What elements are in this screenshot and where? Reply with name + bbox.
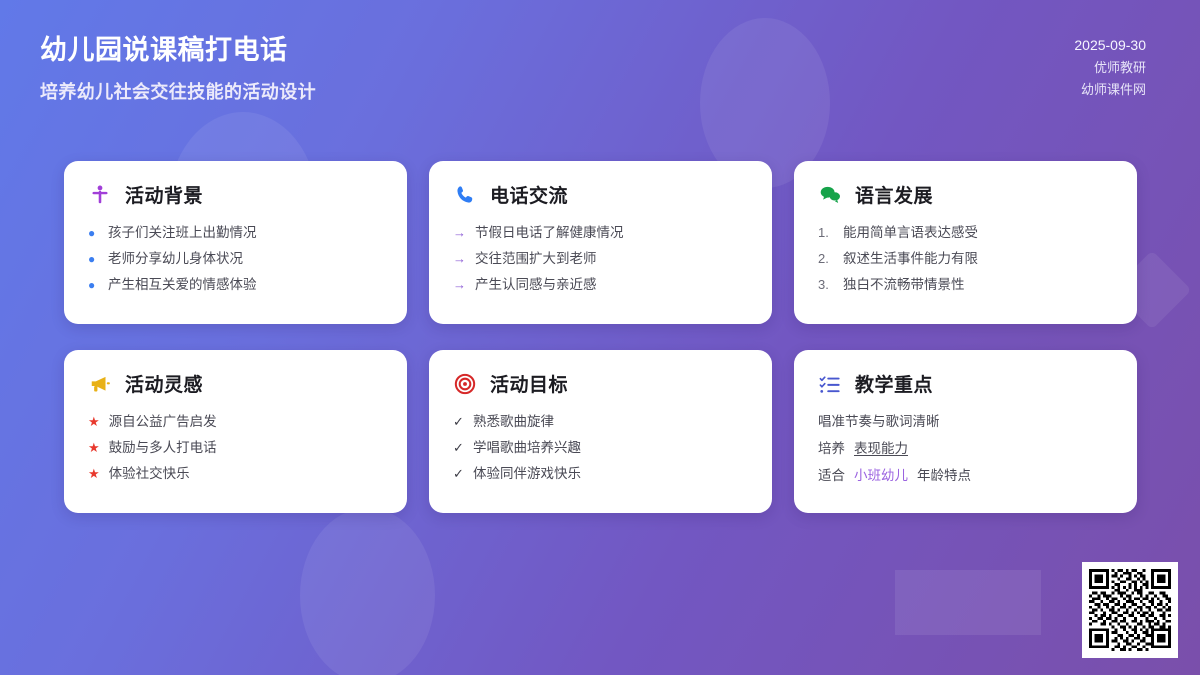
list-item-text: 产生认同感与亲近感 — [475, 275, 597, 296]
list-item-text: 产生相互关爱的情感体验 — [108, 275, 257, 296]
list-item: 3.独白不流畅带情景性 — [818, 275, 1113, 296]
arrow-bullet-icon: → — [453, 223, 466, 243]
card-language-development[interactable]: 语言发展 1.能用简单言语表达感受 2.叙述生活事件能力有限 3.独白不流畅带情… — [794, 161, 1137, 324]
number-bullet: 2. — [818, 249, 834, 269]
check-bullet-icon: ✓ — [453, 438, 464, 458]
number-bullet: 1. — [818, 223, 834, 243]
list-item-text-prefix: 适合 — [818, 466, 845, 487]
card-header: 活动背景 — [88, 181, 383, 208]
number-bullet: 3. — [818, 275, 834, 295]
slide-header: 幼儿园说课稿打电话 培养幼儿社会交往技能的活动设计 2025-09-30 优师教… — [0, 0, 1200, 104]
card-activity-background[interactable]: 活动背景 ●孩子们关注班上出勤情况 ●老师分享幼儿身体状况 ●产生相互关爱的情感… — [64, 161, 407, 324]
list-item: ★体验社交快乐 — [88, 464, 383, 485]
meta-date: 2025-09-30 — [1074, 34, 1146, 57]
card-teaching-focus[interactable]: 教学重点 唱准节奏与歌词清晰 培养表现能力 适合小班幼儿年龄特点 — [794, 350, 1137, 513]
star-bullet-icon: ★ — [88, 464, 100, 484]
card-title: 教学重点 — [855, 370, 933, 397]
card-header: 电话交流 — [453, 181, 748, 208]
list-item: 培养表现能力 — [818, 439, 1113, 460]
list-item-text-prefix: 培养 — [818, 439, 845, 460]
card-activity-goals[interactable]: 活动目标 ✓熟悉歌曲旋律 ✓学唱歌曲培养兴趣 ✓体验同伴游戏快乐 — [429, 350, 772, 513]
list-item: →产生认同感与亲近感 — [453, 275, 748, 296]
list-item-text: 独白不流畅带情景性 — [843, 275, 965, 296]
list-item-text-suffix: 年龄特点 — [917, 466, 971, 487]
list-item: ★源自公益广告启发 — [88, 412, 383, 433]
slide-root: 幼儿园说课稿打电话 培养幼儿社会交往技能的活动设计 2025-09-30 优师教… — [0, 0, 1200, 675]
card-header: 活动目标 — [453, 370, 748, 397]
card-header: 语言发展 — [818, 181, 1113, 208]
list-item-text: 交往范围扩大到老师 — [475, 249, 597, 270]
list-item-text: 叙述生活事件能力有限 — [843, 249, 978, 270]
card-list: ●孩子们关注班上出勤情况 ●老师分享幼儿身体状况 ●产生相互关爱的情感体验 — [88, 223, 383, 296]
qr-code-image — [1089, 569, 1171, 651]
list-item-text: 鼓励与多人打电话 — [109, 438, 217, 459]
list-item-text: 熟悉歌曲旋律 — [473, 412, 554, 433]
target-icon — [453, 372, 477, 396]
list-item: →交往范围扩大到老师 — [453, 249, 748, 270]
page-subtitle: 培养幼儿社会交往技能的活动设计 — [40, 78, 316, 104]
meta-site: 幼师课件网 — [1074, 79, 1146, 100]
list-item-text: 孩子们关注班上出勤情况 — [108, 223, 257, 244]
dot-bullet-icon: ● — [88, 276, 99, 295]
card-phone-communication[interactable]: 电话交流 →节假日电话了解健康情况 →交往范围扩大到老师 →产生认同感与亲近感 — [429, 161, 772, 324]
list-item-text: 源自公益广告启发 — [109, 412, 217, 433]
list-item-text: 老师分享幼儿身体状况 — [108, 249, 243, 270]
list-item: ★鼓励与多人打电话 — [88, 438, 383, 459]
arrow-bullet-icon: → — [453, 275, 466, 295]
checklist-icon — [818, 372, 842, 396]
list-item: ●产生相互关爱的情感体验 — [88, 275, 383, 296]
cards-grid: 活动背景 ●孩子们关注班上出勤情况 ●老师分享幼儿身体状况 ●产生相互关爱的情感… — [64, 161, 1136, 513]
card-header: 教学重点 — [818, 370, 1113, 397]
card-list: ★源自公益广告启发 ★鼓励与多人打电话 ★体验社交快乐 — [88, 412, 383, 485]
card-title: 活动背景 — [125, 181, 203, 208]
check-bullet-icon: ✓ — [453, 464, 464, 484]
list-item-text: 唱准节奏与歌词清晰 — [818, 412, 940, 433]
list-item: ✓体验同伴游戏快乐 — [453, 464, 748, 485]
card-list: 1.能用简单言语表达感受 2.叙述生活事件能力有限 3.独白不流畅带情景性 — [818, 223, 1113, 296]
decorative-circle-c — [300, 508, 435, 675]
list-item: 1.能用简单言语表达感受 — [818, 223, 1113, 244]
list-item: 适合小班幼儿年龄特点 — [818, 466, 1113, 487]
card-title: 活动灵感 — [125, 370, 203, 397]
phone-icon — [453, 183, 477, 207]
card-list: ✓熟悉歌曲旋律 ✓学唱歌曲培养兴趣 ✓体验同伴游戏快乐 — [453, 412, 748, 485]
dot-bullet-icon: ● — [88, 250, 99, 269]
meta-org: 优师教研 — [1074, 57, 1146, 78]
speech-bubbles-icon — [818, 183, 842, 207]
card-activity-inspiration[interactable]: 活动灵感 ★源自公益广告启发 ★鼓励与多人打电话 ★体验社交快乐 — [64, 350, 407, 513]
list-item-text: 学唱歌曲培养兴趣 — [473, 438, 581, 459]
list-item-text: 能用简单言语表达感受 — [843, 223, 978, 244]
card-title: 活动目标 — [490, 370, 568, 397]
list-item-text: 体验同伴游戏快乐 — [473, 464, 581, 485]
card-title: 电话交流 — [490, 181, 568, 208]
list-item-text: 节假日电话了解健康情况 — [475, 223, 624, 244]
decorative-plate — [895, 570, 1041, 635]
dot-bullet-icon: ● — [88, 224, 99, 243]
star-bullet-icon: ★ — [88, 412, 100, 432]
check-bullet-icon: ✓ — [453, 412, 464, 432]
page-title: 幼儿园说课稿打电话 — [40, 34, 316, 68]
list-item: ✓学唱歌曲培养兴趣 — [453, 438, 748, 459]
star-bullet-icon: ★ — [88, 438, 100, 458]
megaphone-icon — [88, 372, 112, 396]
card-header: 活动灵感 — [88, 370, 383, 397]
person-standing-icon — [88, 183, 112, 207]
card-list: 唱准节奏与歌词清晰 培养表现能力 适合小班幼儿年龄特点 — [818, 412, 1113, 487]
list-item-text-underlined: 表现能力 — [854, 439, 908, 460]
list-item: →节假日电话了解健康情况 — [453, 223, 748, 244]
list-item-text-accent: 小班幼儿 — [854, 466, 908, 487]
qr-code[interactable] — [1082, 562, 1178, 658]
list-item: ●孩子们关注班上出勤情况 — [88, 223, 383, 244]
list-item: 2.叙述生活事件能力有限 — [818, 249, 1113, 270]
card-list: →节假日电话了解健康情况 →交往范围扩大到老师 →产生认同感与亲近感 — [453, 223, 748, 296]
header-meta: 2025-09-30 优师教研 幼师课件网 — [1074, 34, 1146, 100]
list-item: ●老师分享幼儿身体状况 — [88, 249, 383, 270]
title-block: 幼儿园说课稿打电话 培养幼儿社会交往技能的活动设计 — [40, 34, 316, 104]
list-item: ✓熟悉歌曲旋律 — [453, 412, 748, 433]
card-title: 语言发展 — [855, 181, 933, 208]
arrow-bullet-icon: → — [453, 249, 466, 269]
list-item-text: 体验社交快乐 — [109, 464, 190, 485]
list-item: 唱准节奏与歌词清晰 — [818, 412, 1113, 433]
